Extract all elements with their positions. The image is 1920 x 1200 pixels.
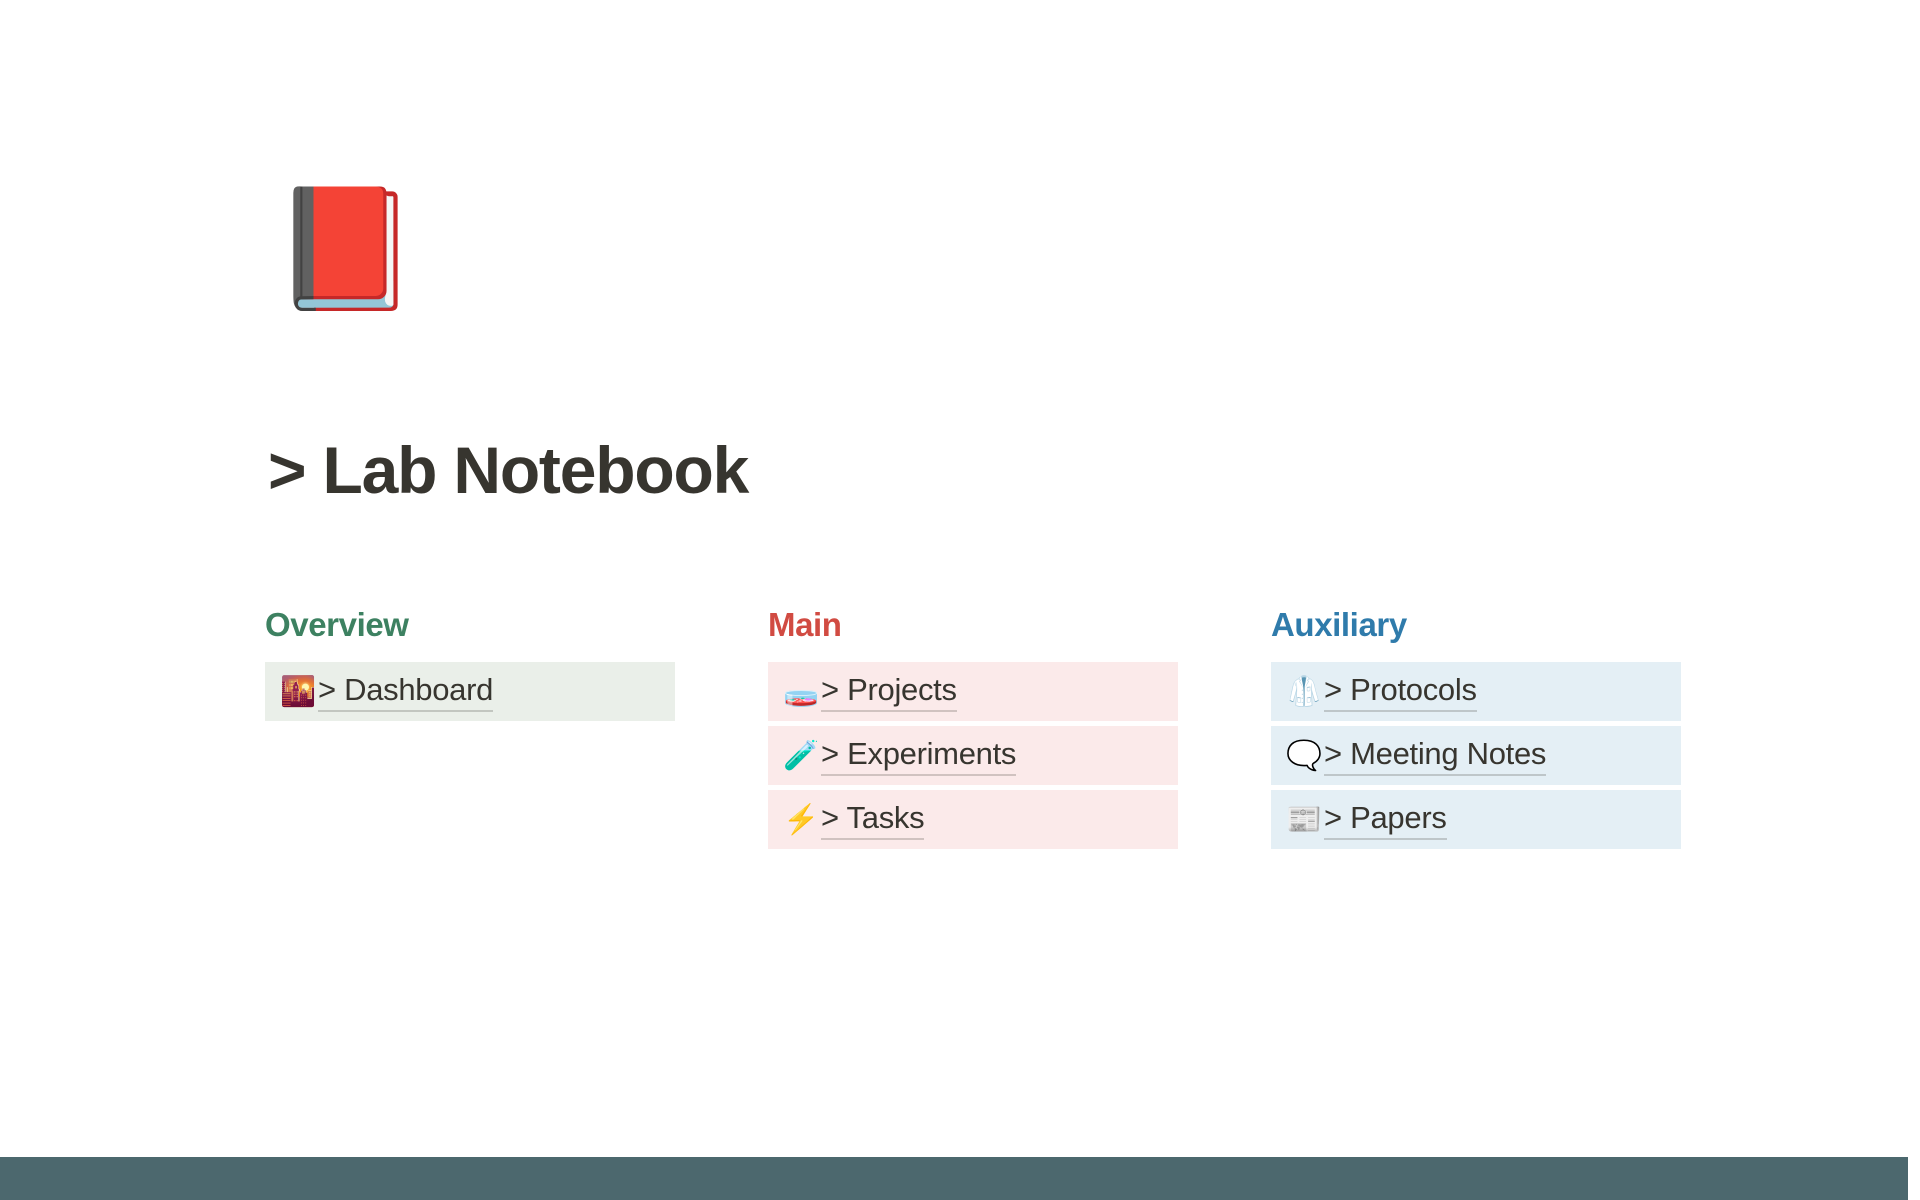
- high-voltage-emoji: ⚡: [783, 803, 821, 837]
- test-tube-emoji: 🧪: [783, 739, 821, 773]
- column-title-auxiliary: Auxiliary: [1271, 606, 1681, 644]
- lab-coat-emoji: 🥼: [1286, 675, 1324, 709]
- nav-link-tasks[interactable]: > Tasks: [821, 800, 924, 840]
- closed-book-emoji: 📕: [272, 183, 404, 315]
- nav-link-experiments[interactable]: > Experiments: [821, 736, 1016, 776]
- page-root: 📕 > Lab Notebook Overview🌇> DashboardMai…: [0, 0, 1920, 1200]
- nav-row-meeting-notes[interactable]: 🗨️> Meeting Notes: [1271, 726, 1681, 785]
- speech-bubble-emoji: 🗨️: [1286, 739, 1324, 773]
- nav-row-papers[interactable]: 📰> Papers: [1271, 790, 1681, 849]
- scroll-gutter[interactable]: [1908, 0, 1920, 1200]
- nav-row-projects[interactable]: 🧫> Projects: [768, 662, 1178, 721]
- nav-row-protocols[interactable]: 🥼> Protocols: [1271, 662, 1681, 721]
- petri-dish-emoji: 🧫: [783, 675, 821, 709]
- nav-row-experiments[interactable]: 🧪> Experiments: [768, 726, 1178, 785]
- nav-link-dashboard[interactable]: > Dashboard: [318, 672, 493, 712]
- nav-link-protocols[interactable]: > Protocols: [1324, 672, 1477, 712]
- column-auxiliary: Auxiliary🥼> Protocols🗨️> Meeting Notes📰>…: [1271, 606, 1681, 849]
- column-title-main: Main: [768, 606, 1178, 644]
- newspaper-emoji: 📰: [1286, 803, 1324, 837]
- column-title-overview: Overview: [265, 606, 675, 644]
- nav-row-dashboard[interactable]: 🌇> Dashboard: [265, 662, 675, 721]
- nav-row-tasks[interactable]: ⚡> Tasks: [768, 790, 1178, 849]
- sunset-emoji: 🌇: [280, 675, 318, 709]
- page-title: > Lab Notebook: [268, 432, 748, 508]
- column-rows-overview: 🌇> Dashboard: [265, 662, 675, 721]
- nav-link-projects[interactable]: > Projects: [821, 672, 957, 712]
- bottom-bar: [0, 1157, 1908, 1200]
- column-main: Main🧫> Projects🧪> Experiments⚡> Tasks: [768, 606, 1178, 849]
- column-group: Overview🌇> DashboardMain🧫> Projects🧪> Ex…: [265, 606, 1685, 849]
- nav-link-papers[interactable]: > Papers: [1324, 800, 1447, 840]
- column-rows-main: 🧫> Projects🧪> Experiments⚡> Tasks: [768, 662, 1178, 849]
- column-rows-auxiliary: 🥼> Protocols🗨️> Meeting Notes📰> Papers: [1271, 662, 1681, 849]
- nav-link-meeting-notes[interactable]: > Meeting Notes: [1324, 736, 1546, 776]
- column-overview: Overview🌇> Dashboard: [265, 606, 675, 721]
